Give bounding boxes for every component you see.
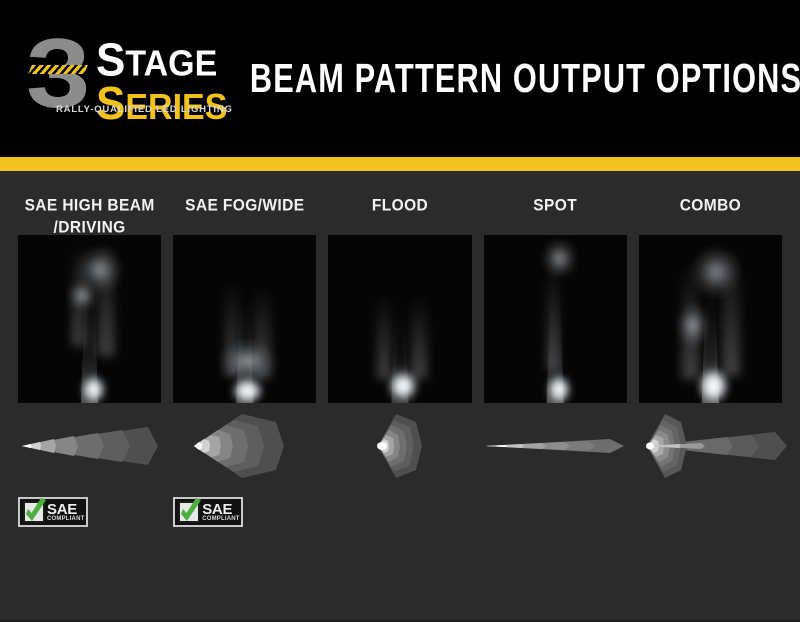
no-badge-combo [639, 497, 709, 527]
sae-badge-sub-text: COMPLIANT [47, 516, 84, 522]
isolux-contours [180, 410, 310, 482]
isolux-contours [484, 411, 628, 481]
sae-check-box [23, 501, 45, 523]
beam-photo-spot [484, 235, 627, 403]
label-combo: COMBO [639, 171, 782, 241]
page-title: BEAM PATTERN OUTPUT OPTIONS [273, 0, 780, 179]
beam-photo-sae-fog-wide [173, 235, 316, 403]
beam-diagram-sae-high-beam-driving [18, 403, 161, 489]
sae-badge-row: SAE COMPLIANT SAE COMPLIANT [0, 489, 800, 539]
label-spot: SPOT [484, 171, 627, 241]
hot-spot [82, 376, 105, 403]
isolux-contours [18, 411, 162, 481]
side-brush [67, 279, 99, 313]
column-spot: SPOT [484, 171, 627, 235]
beam-photo-flood [328, 235, 471, 403]
beam-diagram-row [0, 403, 800, 489]
beam-photo-sae-high-beam-driving [18, 235, 161, 403]
hot-spot [233, 379, 262, 403]
column-sae-high-beam-driving: SAE HIGH BEAM/DRIVING [18, 171, 161, 235]
column-combo: COMBO [639, 171, 782, 235]
sae-badge-sub-text: COMPLIANT [202, 516, 239, 522]
hot-spot [548, 376, 569, 403]
beam-diagram-combo [639, 403, 782, 489]
isolux-contours [366, 410, 434, 482]
logo-accent-stripe-icon [28, 65, 88, 74]
isolux-contours [639, 410, 789, 482]
foliage-right [411, 295, 427, 379]
label-sae-fog-wide: SAE FOG/WIDE [173, 171, 316, 241]
brand-logo: 3 STAGE SERIES RALLY-QUALIFIED LED LIGHT… [26, 26, 246, 130]
sae-compliant-badge-sae-fog-wide: SAE COMPLIANT [173, 497, 243, 527]
sae-badge-main-text: SAE [202, 502, 239, 517]
logo-word-stage: STAGE [96, 40, 227, 82]
sae-check-box [178, 501, 200, 523]
check-icon [23, 498, 49, 528]
label-line-1: SAE HIGH BEAM [25, 196, 155, 215]
no-badge-flood [328, 497, 398, 527]
hot-spot [389, 369, 418, 403]
hot-spot [699, 369, 728, 403]
beam-diagram-spot [484, 403, 627, 489]
near-brush [219, 339, 276, 383]
sae-badge-main-text: SAE [47, 502, 84, 517]
check-icon [178, 498, 204, 528]
label-flood: FLOOD [328, 171, 471, 241]
canopy-glow [690, 245, 742, 299]
center-column [547, 262, 558, 370]
column-labels-row: SAE HIGH BEAM/DRIVING SAE FOG/WIDE FLOOD… [0, 171, 800, 235]
no-badge-spot [484, 497, 554, 527]
column-flood: FLOOD [328, 171, 471, 235]
logo-tagline: RALLY-QUALIFIED LED LIGHTING [56, 104, 233, 115]
beam-pattern-board: SAE HIGH BEAM/DRIVING SAE FOG/WIDE FLOOD… [0, 171, 800, 622]
label-line-2: /DRIVING [54, 218, 126, 237]
sae-compliant-badge-sae-high-beam-driving: SAE COMPLIANT [18, 497, 88, 527]
beam-diagram-flood [366, 403, 434, 489]
label-sae-high-beam-driving: SAE HIGH BEAM/DRIVING [18, 171, 161, 241]
beam-photo-combo [639, 235, 782, 403]
foliage-left [377, 292, 391, 379]
photo-row [0, 235, 800, 403]
column-sae-fog-wide: SAE FOG/WIDE [173, 171, 316, 235]
beam-diagram-sae-fog-wide [173, 403, 316, 489]
side-brush [676, 302, 710, 349]
page-header: 3 STAGE SERIES RALLY-QUALIFIED LED LIGHT… [0, 0, 800, 157]
